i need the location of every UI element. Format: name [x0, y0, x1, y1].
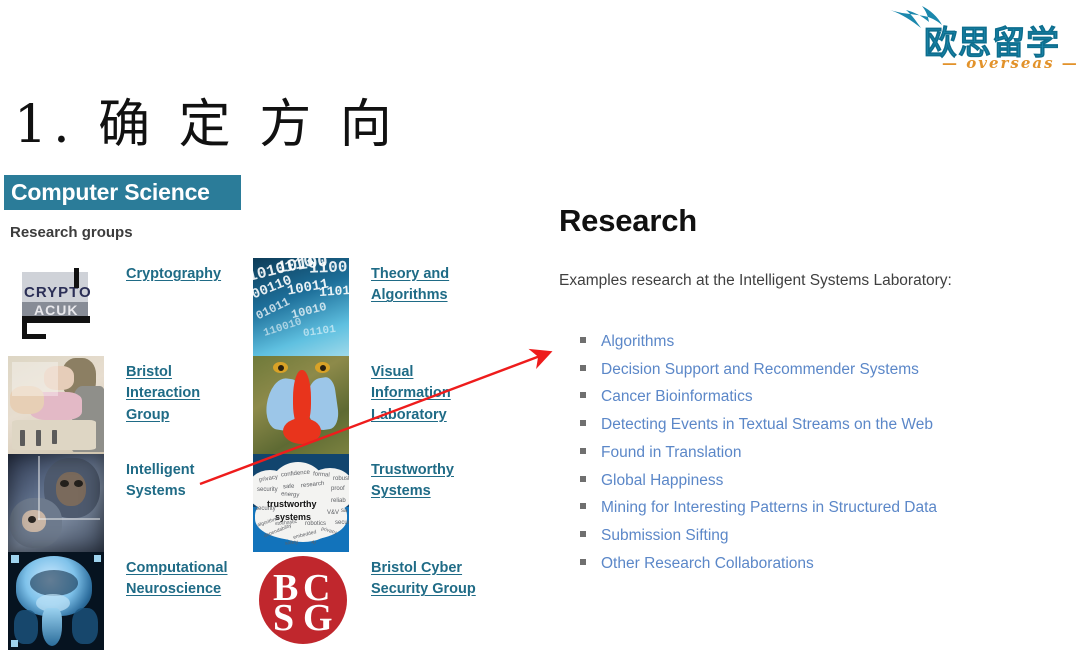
slide-canvas: 欧思留学 — overseas — 1. 确 定 方 向 Computer Sc…: [0, 0, 1080, 669]
logo-dash-right: —: [1062, 54, 1079, 72]
grid-row: CRYPTO ACUK Cryptography 1010110 10100: [8, 258, 538, 356]
research-heading: Research: [559, 203, 697, 239]
research-link[interactable]: Submission Sifting: [601, 527, 729, 544]
list-item[interactable]: Submission Sifting: [575, 522, 937, 550]
bullet-square-icon: [580, 392, 586, 398]
group-cell-bristol-interaction-group[interactable]: Bristol Interaction Group: [8, 356, 253, 454]
group-link-trustworthy-systems[interactable]: Trustworthy Systems: [371, 460, 491, 503]
research-topic-list: Algorithms Decision Support and Recommen…: [575, 328, 937, 578]
list-item[interactable]: Found in Translation: [575, 439, 937, 467]
bullet-square-icon: [580, 531, 586, 537]
group-cell-computational-neuroscience[interactable]: Computational Neuroscience: [8, 552, 253, 650]
grid-row: Bristol Interaction Group: [8, 356, 538, 454]
bcsg-letter-s: S: [273, 596, 294, 640]
interaction-photo-image: [8, 356, 104, 454]
research-link[interactable]: Detecting Events in Textual Streams on t…: [601, 416, 933, 433]
bullet-square-icon: [580, 503, 586, 509]
research-lead-text: Examples research at the Intelligent Sys…: [559, 272, 952, 290]
brain-scan-image: [8, 552, 104, 650]
bullet-square-icon: [580, 420, 586, 426]
logo-subtitle: — overseas —: [942, 54, 1079, 72]
group-cell-trustworthy-systems[interactable]: privacy confidence formal robust securit…: [253, 454, 498, 552]
research-link[interactable]: Global Happiness: [601, 472, 723, 489]
bullet-square-icon: [580, 337, 586, 343]
research-link[interactable]: Found in Translation: [601, 444, 741, 461]
research-link[interactable]: Decision Support and Recommender Systems: [601, 361, 919, 378]
group-cell-cryptography[interactable]: CRYPTO ACUK Cryptography: [8, 258, 253, 356]
chimpanzee-image: [8, 454, 104, 552]
research-link[interactable]: Mining for Interesting Patterns in Struc…: [601, 499, 937, 516]
logo-subtitle-text: overseas: [966, 54, 1054, 72]
research-link[interactable]: Cancer Bioinformatics: [601, 388, 753, 405]
page-title: 1. 确 定 方 向: [14, 82, 398, 157]
group-link-computational-neuroscience[interactable]: Computational Neuroscience: [126, 558, 246, 601]
group-link-bristol-interaction-group[interactable]: Bristol Interaction Group: [126, 362, 246, 426]
computer-science-banner: Computer Science: [4, 175, 241, 210]
bullet-square-icon: [580, 448, 586, 454]
grid-row: Intelligent Systems privacy confidence f…: [8, 454, 538, 552]
baboon-image: [253, 356, 349, 454]
bcsg-logo-image: B C S G: [253, 552, 349, 650]
group-link-theory-and-algorithms[interactable]: Theory and Algorithms: [371, 264, 491, 307]
research-link[interactable]: Other Research Collaborations: [601, 555, 814, 572]
bullet-square-icon: [580, 365, 586, 371]
crypto-padlock-image: CRYPTO ACUK: [8, 258, 104, 356]
group-cell-intelligent-systems[interactable]: Intelligent Systems: [8, 454, 253, 552]
list-item[interactable]: Cancer Bioinformatics: [575, 383, 937, 411]
logo-dash-left: —: [942, 54, 959, 72]
brand-logo: 欧思留学 — overseas —: [884, 2, 1074, 74]
group-cell-visual-information-laboratory[interactable]: Visual Information Laboratory: [253, 356, 498, 454]
research-groups-heading: Research groups: [10, 224, 133, 241]
grid-row: Computational Neuroscience B C S G Brist…: [8, 552, 538, 650]
group-link-visual-information-laboratory[interactable]: Visual Information Laboratory: [371, 362, 491, 426]
group-cell-bristol-cyber-security-group[interactable]: B C S G Bristol Cyber Security Group: [253, 552, 498, 650]
bullet-square-icon: [580, 559, 586, 565]
group-cell-theory-and-algorithms[interactable]: 1010110 10100 1100 00110 10011 1101 0101…: [253, 258, 498, 356]
computer-science-label: Computer Science: [11, 179, 210, 206]
bcsg-letter-g: G: [303, 596, 333, 640]
list-item[interactable]: Algorithms: [575, 328, 937, 356]
word-cloud-image: privacy confidence formal robust securit…: [253, 454, 349, 552]
group-link-intelligent-systems[interactable]: Intelligent Systems: [126, 460, 246, 503]
list-item[interactable]: Mining for Interesting Patterns in Struc…: [575, 494, 937, 522]
group-link-cryptography[interactable]: Cryptography: [126, 264, 246, 285]
list-item[interactable]: Detecting Events in Textual Streams on t…: [575, 411, 937, 439]
binary-code-image: 1010110 10100 1100 00110 10011 1101 0101…: [253, 258, 349, 356]
group-link-bristol-cyber-security-group[interactable]: Bristol Cyber Security Group: [371, 558, 491, 601]
list-item[interactable]: Other Research Collaborations: [575, 550, 937, 578]
list-item[interactable]: Decision Support and Recommender Systems: [575, 356, 937, 384]
research-groups-grid: CRYPTO ACUK Cryptography 1010110 10100: [8, 258, 538, 650]
research-link[interactable]: Algorithms: [601, 333, 674, 350]
bullet-square-icon: [580, 476, 586, 482]
list-item[interactable]: Global Happiness: [575, 467, 937, 495]
